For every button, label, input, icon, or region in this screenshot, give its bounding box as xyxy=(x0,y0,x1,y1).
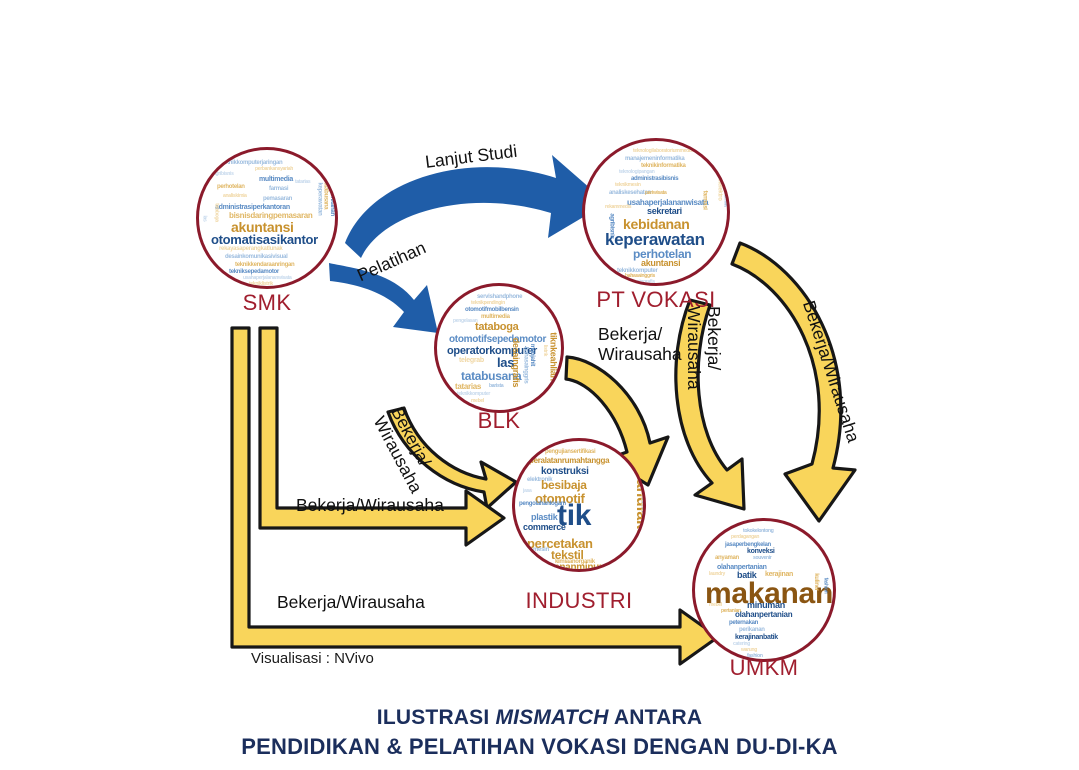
wordcloud-umkm: tokokelontong perdagangan jasaperbengkel… xyxy=(695,521,833,659)
node-umkm[interactable]: tokokelontong perdagangan jasaperbengkel… xyxy=(692,518,836,662)
edge-label-blk-industri: Bekerja/ Wirausaha xyxy=(369,404,443,496)
edge-label-smk-umkm: Bekerja/Wirausaha xyxy=(277,592,425,613)
page-title: ILUSTRASI MISMATCH ANTARA xyxy=(0,706,1079,730)
wordcloud-blk: servishandphone teknikpendingin otomotif… xyxy=(437,286,561,410)
node-industri[interactable]: pengujiansertifikasi peralatanrumahtangg… xyxy=(512,438,646,572)
node-smk-label: SMK xyxy=(197,290,337,316)
title-line1-pre: ILUSTRASI xyxy=(377,706,496,729)
node-smk[interactable]: teknikkomputerjaringan perbankansyariah … xyxy=(196,147,338,289)
edge-label-ptvokasi-umkm-outer: Bekerja/Wirausaha xyxy=(798,298,864,445)
arrow-smk-to-ptvokasi xyxy=(345,155,607,258)
diagram-canvas: .ybody{fill:#F9D55B;stroke:#171717;strok… xyxy=(0,0,1079,770)
wordcloud-smk: teknikkomputerjaringan perbankansyariah … xyxy=(199,150,335,286)
edge-label-smk-industri: Bekerja/Wirausaha xyxy=(296,495,444,516)
title-line1-post: ANTARA xyxy=(609,706,703,729)
node-blk[interactable]: servishandphone teknikpendingin otomotif… xyxy=(434,283,564,413)
edge-label-ptvokasi-umkm-inner: Bekerja/ Wirausaha xyxy=(684,306,723,390)
node-ptvokasi[interactable]: teknologilaboratoriummedis manajemeninfo… xyxy=(582,138,730,286)
page-subtitle: PENDIDIKAN & PELATIHAN VOKASI DENGAN DU-… xyxy=(0,734,1079,760)
edge-label-pelatihan: Pelatihan xyxy=(354,237,429,286)
wordcloud-ptvokasi: teknologilaboratoriummedis manajemeninfo… xyxy=(585,141,727,283)
edge-label-ptvokasi-industri: Bekerja/ Wirausaha xyxy=(598,325,682,364)
wordcloud-industri: pengujiansertifikasi peralatanrumahtangg… xyxy=(515,441,643,569)
title-line1-italic: MISMATCH xyxy=(495,706,608,729)
node-blk-label: BLK xyxy=(434,408,564,434)
node-umkm-label: UMKM xyxy=(692,655,836,681)
node-industri-label: INDUSTRI xyxy=(504,588,654,614)
edge-label-lanjut-studi: Lanjut Studi xyxy=(424,141,518,173)
credit-note: Visualisasi : NVivo xyxy=(251,650,374,667)
